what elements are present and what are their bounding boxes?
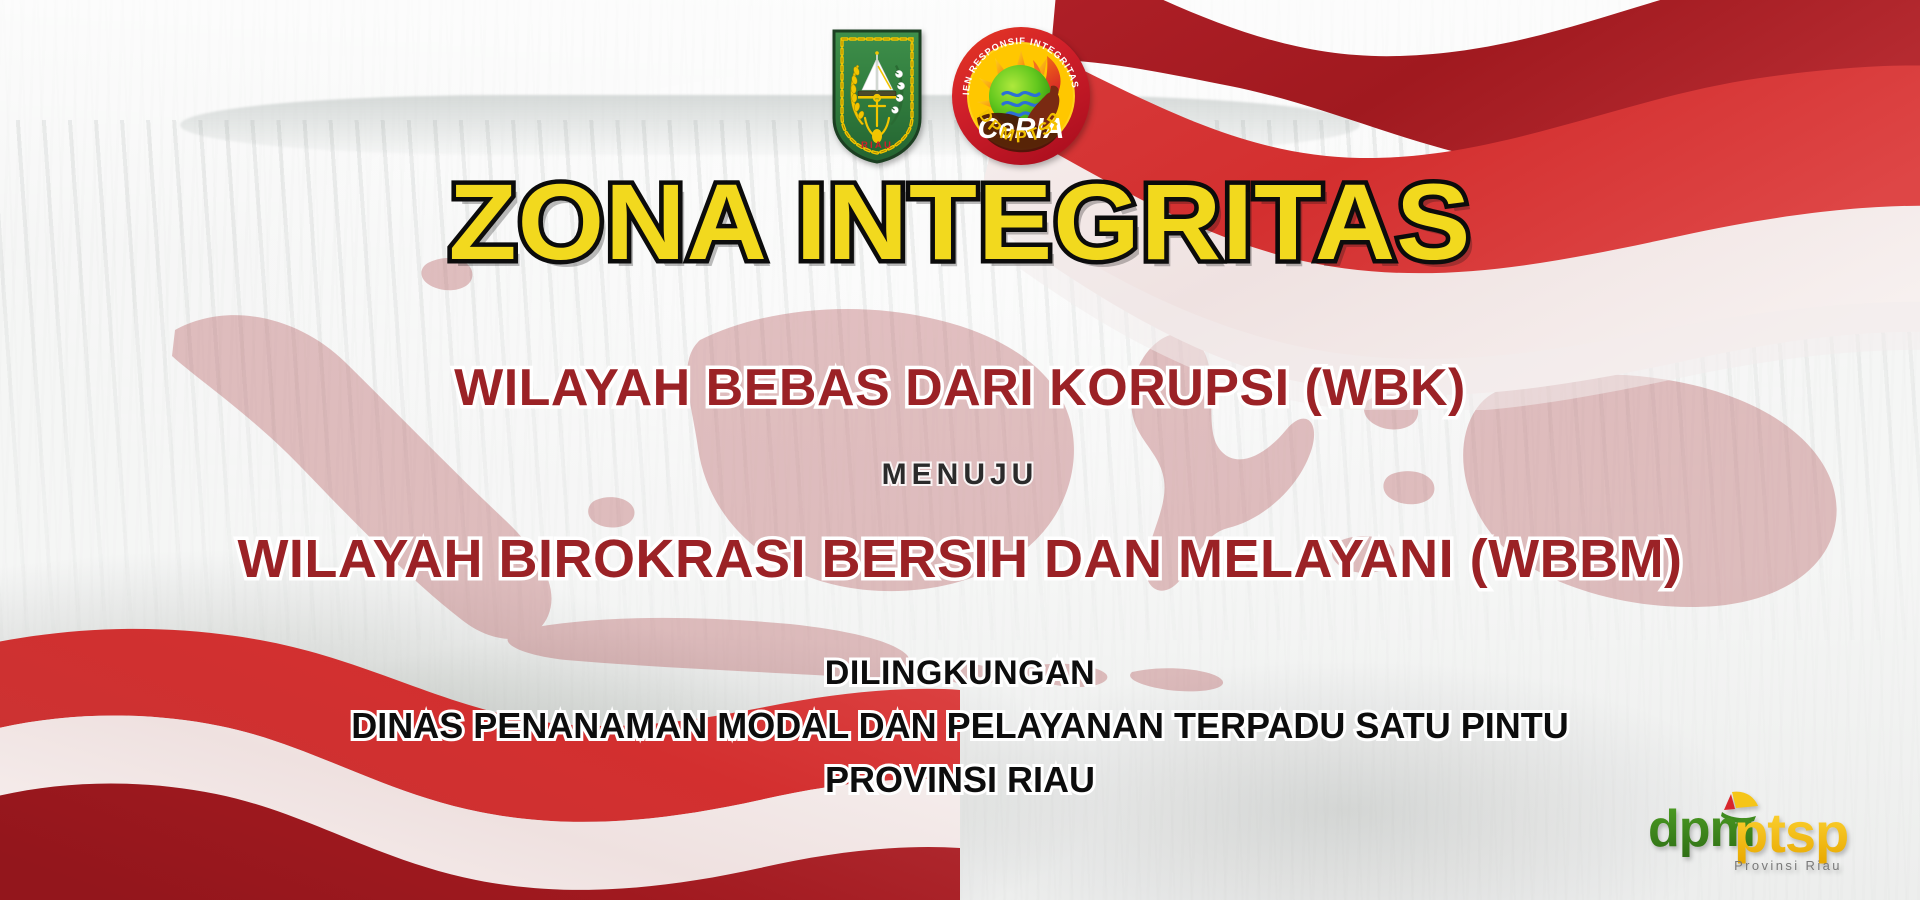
connector-menuju: MENUJU xyxy=(0,460,1920,490)
region-name: PROVINSI RIAU xyxy=(0,762,1920,798)
organization-name: DINAS PENANAMAN MODAL DAN PELAYANAN TERP… xyxy=(0,708,1920,744)
page-title: ZONA INTEGRITAS xyxy=(0,168,1920,276)
dpmptsp-part-two: ptsp xyxy=(1734,801,1848,864)
dpmptsp-tagline: Provinsi Riau xyxy=(1734,858,1842,873)
ceria-logo-icon: CeRIA CEPAT EFISIEN RESPONSIF INTEGRITAS… xyxy=(951,26,1091,166)
logo-row: RIAU xyxy=(0,26,1920,166)
riau-emblem-caption: RIAU xyxy=(861,140,893,151)
subtitle-wbk: WILAYAH BEBAS DARI KORUPSI (WBK) xyxy=(0,362,1920,414)
scope-label: DILINGKUNGAN xyxy=(0,656,1920,690)
dpmptsp-wordmark-icon: dpm ptsp Provinsi Riau xyxy=(1636,774,1886,878)
zona-integritas-banner: RIAU xyxy=(0,0,1920,900)
subtitle-wbbm: WILAYAH BIROKRASI BERSIH DAN MELAYANI (W… xyxy=(0,532,1920,586)
riau-emblem-icon: RIAU xyxy=(829,26,925,166)
